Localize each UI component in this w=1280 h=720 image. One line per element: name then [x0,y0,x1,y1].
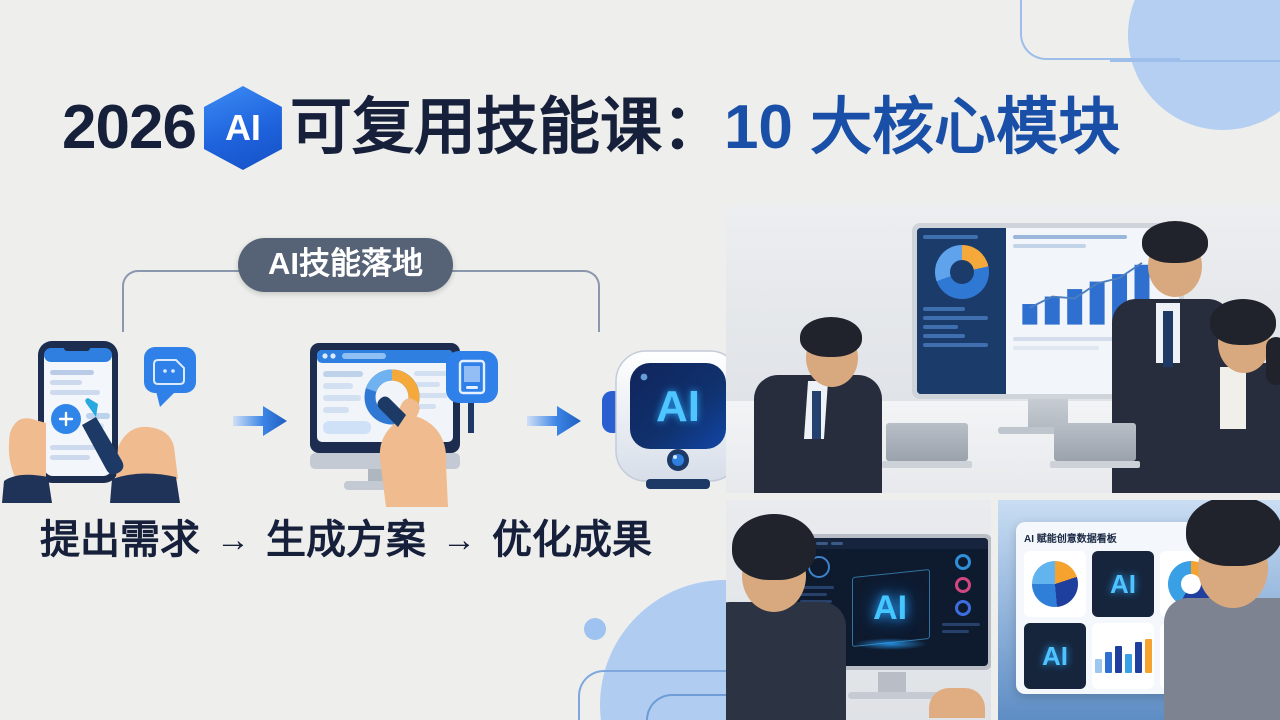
arrow-right-icon [233,404,289,438]
flow-step-labels: 提出需求 → 生成方案 → 优化成果 [40,520,652,560]
label-arrow-2-icon: → [442,523,476,557]
person-viewing-board [1164,500,1280,720]
flow-step-1-art [0,329,228,512]
flow-label-2: 生成方案 [266,520,426,560]
decor-line-top-right [1110,60,1280,62]
photo-presentation-board: AI 赋能创意数据看板 AI AI [998,500,1280,720]
ai-hexagon-badge-icon: AI [204,86,282,170]
title-year: 2026 [62,97,196,159]
title-middle: 可复用技能课： [290,97,724,159]
ai-badge-label: AI [225,110,261,146]
flow-steps: AI [0,328,716,513]
laptop-right [1054,423,1136,471]
flow-label-3: 优化成果 [492,520,652,560]
page-title: 2026 AI 可复用技能课： 10 大核心模块 [62,86,1120,170]
person-seated-right [1178,297,1280,493]
decor-circle-top-right [1128,0,1280,130]
photo-ai-dashboard-viewer: AI [726,500,991,720]
ai-hologram: AI [842,549,938,666]
bar-chart-icon [1095,639,1152,673]
title-highlight: 10 大核心模块 [724,97,1120,159]
flow-label-1: 提出需求 [40,520,200,560]
dashboard-right-rail [938,549,988,666]
person-back-view [726,510,856,720]
laptop-left [886,423,968,471]
dashboard-donut-chart [935,245,989,299]
tile-bar-chart [1092,623,1154,689]
flow-diagram: AI技能落地 [0,200,716,600]
tile-pie-chart [1024,551,1086,617]
person-seated-left [754,313,894,493]
flow-arrow-2 [522,404,588,438]
decor-dot-bottom [584,618,606,640]
decor-frame-top-right [1020,0,1180,60]
tile-ai-label: AI [1110,571,1136,597]
hand-phone-stylus-icon [0,329,228,507]
photo-meeting-dashboard [726,205,1280,493]
flow-pill-badge: AI技能落地 [238,238,453,292]
dashboard-sidebar [917,228,1006,394]
arrow-right-icon [527,404,583,438]
label-arrow-1-icon: → [216,523,250,557]
flow-step-2-art [294,329,522,512]
flow-arrow-1 [228,404,294,438]
tile-ai-2: AI [1024,623,1086,689]
desktop-donut-chart-icon [294,329,522,507]
svg-text:AI: AI [656,382,700,431]
tile-ai-label-2: AI [1042,643,1068,669]
pie-chart-icon [1032,561,1078,607]
tile-ai-1: AI [1092,551,1154,617]
